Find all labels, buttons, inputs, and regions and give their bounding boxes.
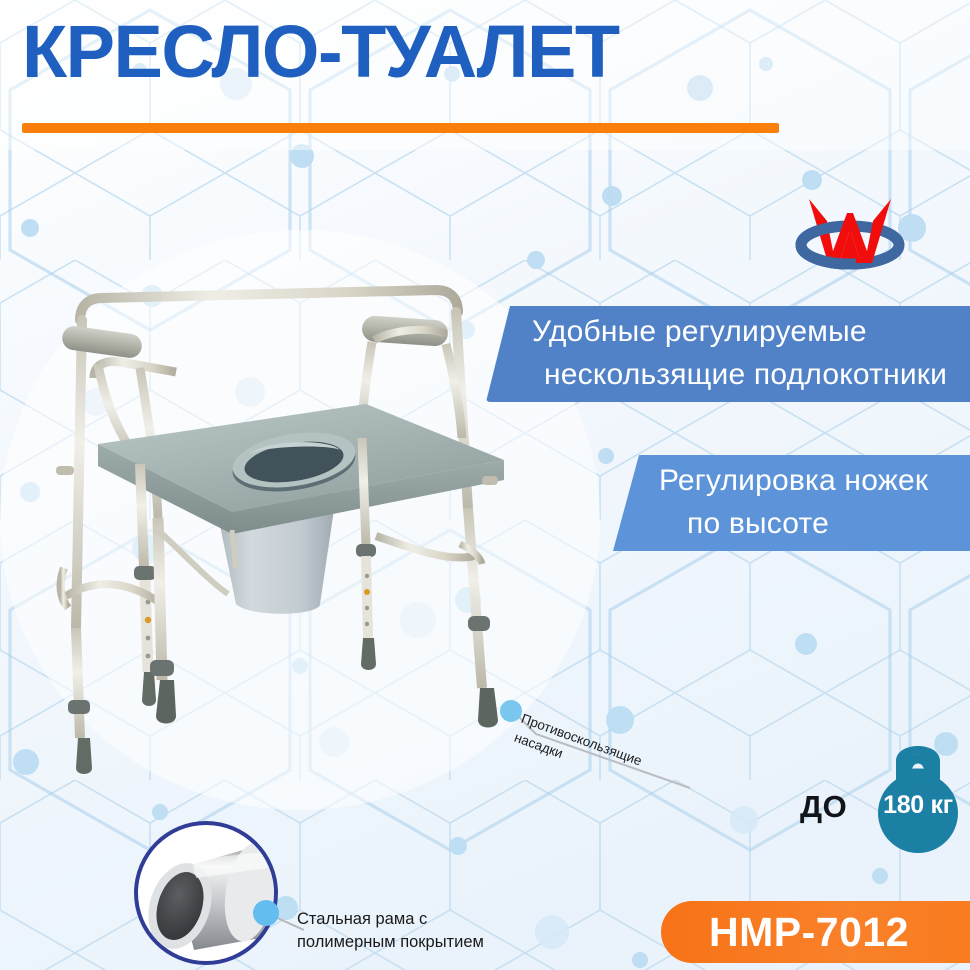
banner-armrests-line2: нескользящие подлокотники: [512, 354, 970, 397]
feature-banner-armrests: Удобные регулируемые нескользящие подлок…: [486, 306, 970, 402]
banner-legs-line2: по высоте: [613, 503, 970, 546]
feature-banner-legs: Регулировка ножек по высоте: [613, 455, 970, 551]
banner-armrests-line1: Удобные регулируемые: [512, 311, 970, 354]
product-banner: КРЕСЛО-ТУАЛЕТ: [0, 0, 970, 970]
callout-steel-frame-line2: полимерным покрытием: [297, 931, 484, 954]
page-title-wrap: КРЕСЛО-ТУАЛЕТ: [22, 16, 619, 89]
max-weight-value: 180 кг: [866, 791, 970, 820]
max-weight-badge: ДО 180 кг: [800, 735, 970, 855]
steel-tube-photo: [122, 818, 290, 968]
callout-steel-frame: Стальная рама с полимерным покрытием: [297, 908, 484, 955]
page-title: КРЕСЛО-ТУАЛЕТ: [22, 16, 619, 89]
commode-chair-photo: [36, 268, 556, 798]
title-underline-rule: [22, 123, 779, 133]
banner-legs-line1: Регулировка ножек: [613, 460, 970, 503]
steel-frame-dot-icon: [253, 900, 279, 926]
callout-steel-frame-line1: Стальная рама с: [297, 908, 484, 931]
m-logo: [793, 185, 908, 280]
anti-slip-dot-icon: [500, 700, 522, 722]
model-code-badge: HMP-7012: [661, 901, 970, 963]
max-weight-prefix: ДО: [800, 789, 847, 825]
